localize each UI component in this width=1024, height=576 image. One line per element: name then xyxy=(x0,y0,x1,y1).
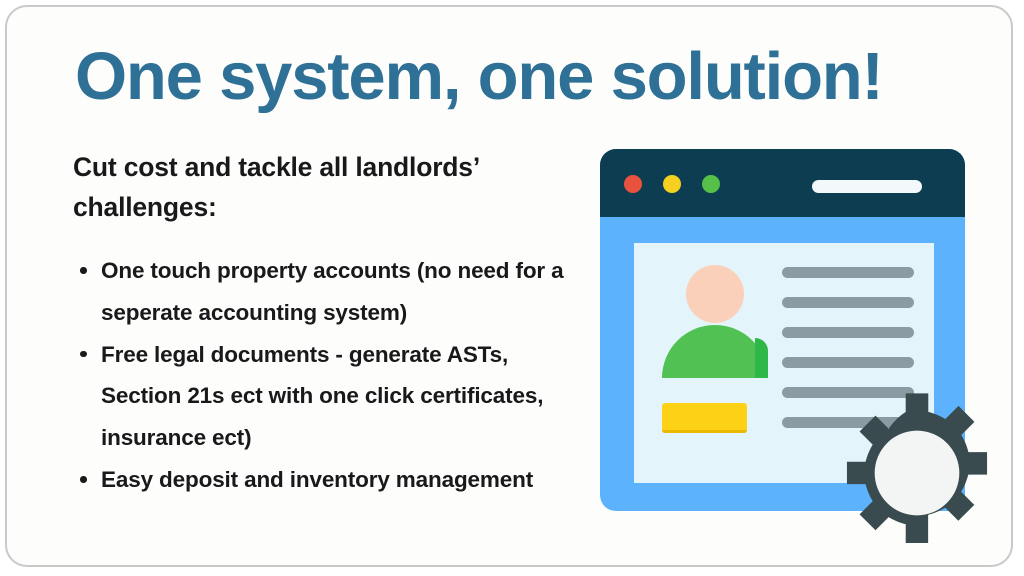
text-line xyxy=(782,327,914,338)
benefits-list: One touch property accounts (no need for… xyxy=(73,250,593,501)
text-line xyxy=(782,267,914,278)
close-dot-icon xyxy=(624,175,642,193)
browser-titlebar xyxy=(600,149,965,217)
action-button-graphic xyxy=(662,403,747,433)
avatar-body-icon xyxy=(662,325,768,378)
text-line xyxy=(782,297,914,308)
avatar-head-icon xyxy=(686,265,744,323)
list-item: One touch property accounts (no need for… xyxy=(73,250,593,333)
maximize-dot-icon xyxy=(702,175,720,193)
illustration xyxy=(592,139,1012,559)
minimize-dot-icon xyxy=(663,175,681,193)
subheading: Cut cost and tackle all landlords’ chall… xyxy=(73,147,573,228)
list-item: Easy deposit and inventory management xyxy=(73,459,593,501)
address-bar xyxy=(812,180,922,193)
text-line xyxy=(782,357,914,368)
page-title: One system, one solution! xyxy=(75,41,995,112)
list-item: Free legal documents - generate ASTs, Se… xyxy=(73,334,593,459)
gear-icon xyxy=(833,390,1001,556)
slide-card: One system, one solution! Cut cost and t… xyxy=(5,5,1013,567)
